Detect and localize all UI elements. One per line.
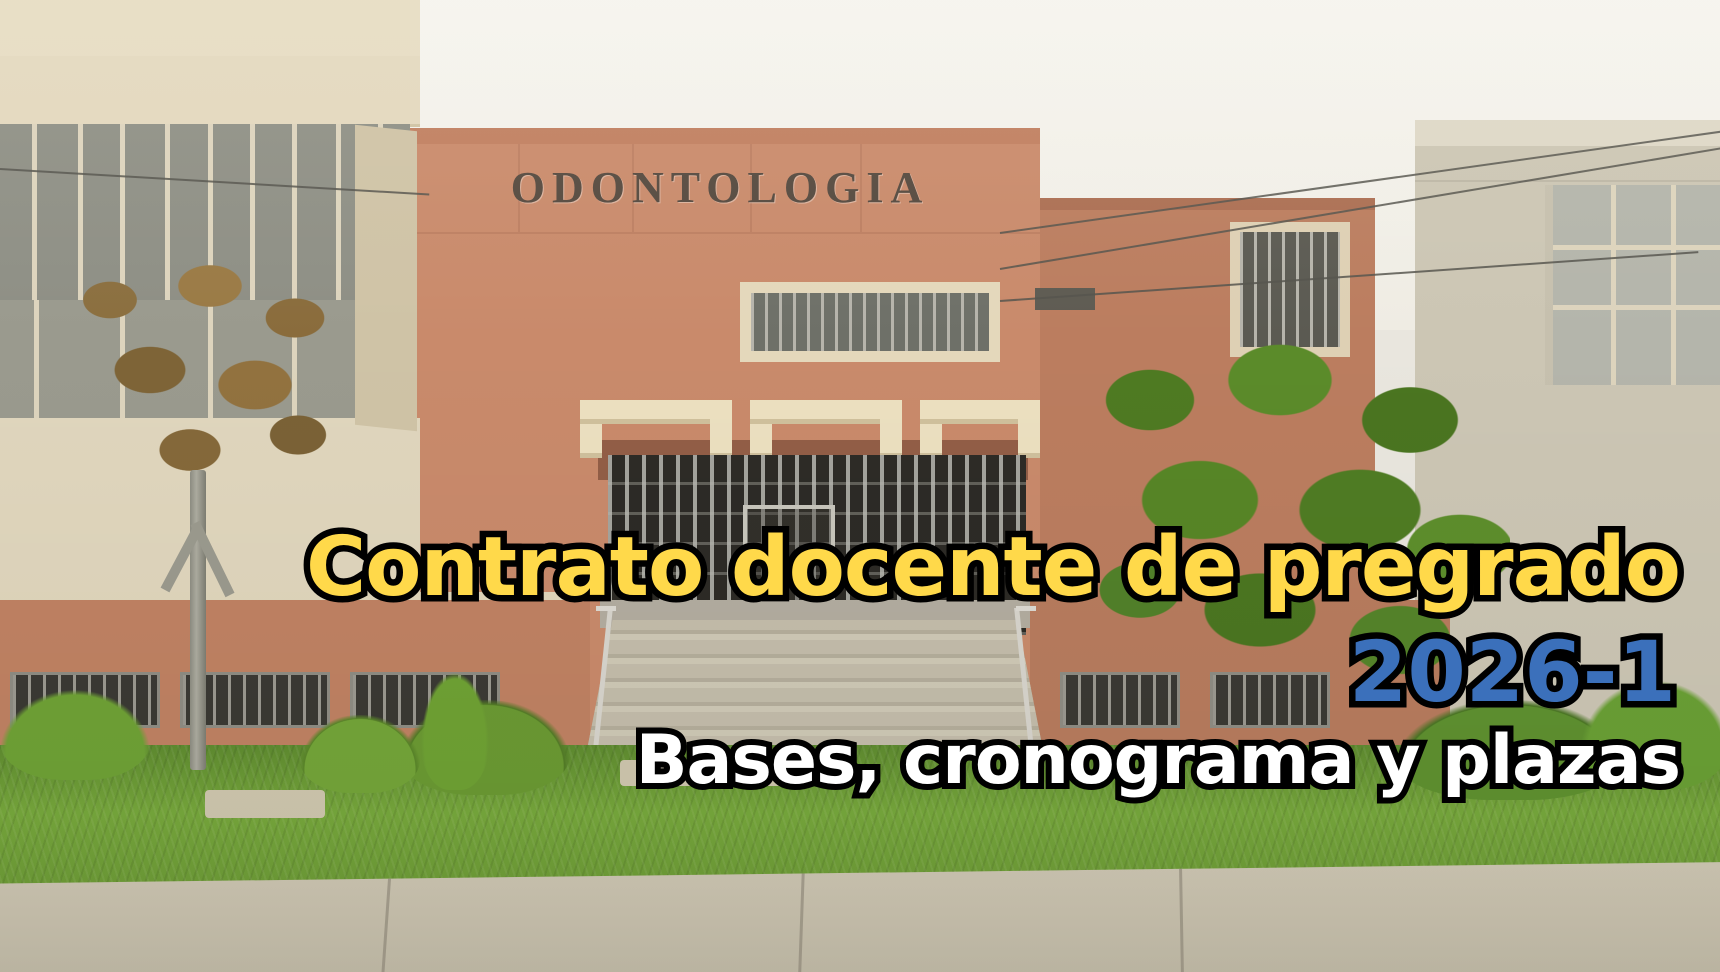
overlay-subline: Bases, cronograma y plazas [0, 727, 1680, 795]
banner-image: ODONTOLOGIA [0, 0, 1720, 972]
overlay-year: 2026-1 [0, 630, 1676, 714]
overlay-headline: Contrato docente de pregrado [0, 527, 1680, 609]
text-overlay: Contrato docente de pregrado 2026-1 Base… [0, 0, 1720, 972]
